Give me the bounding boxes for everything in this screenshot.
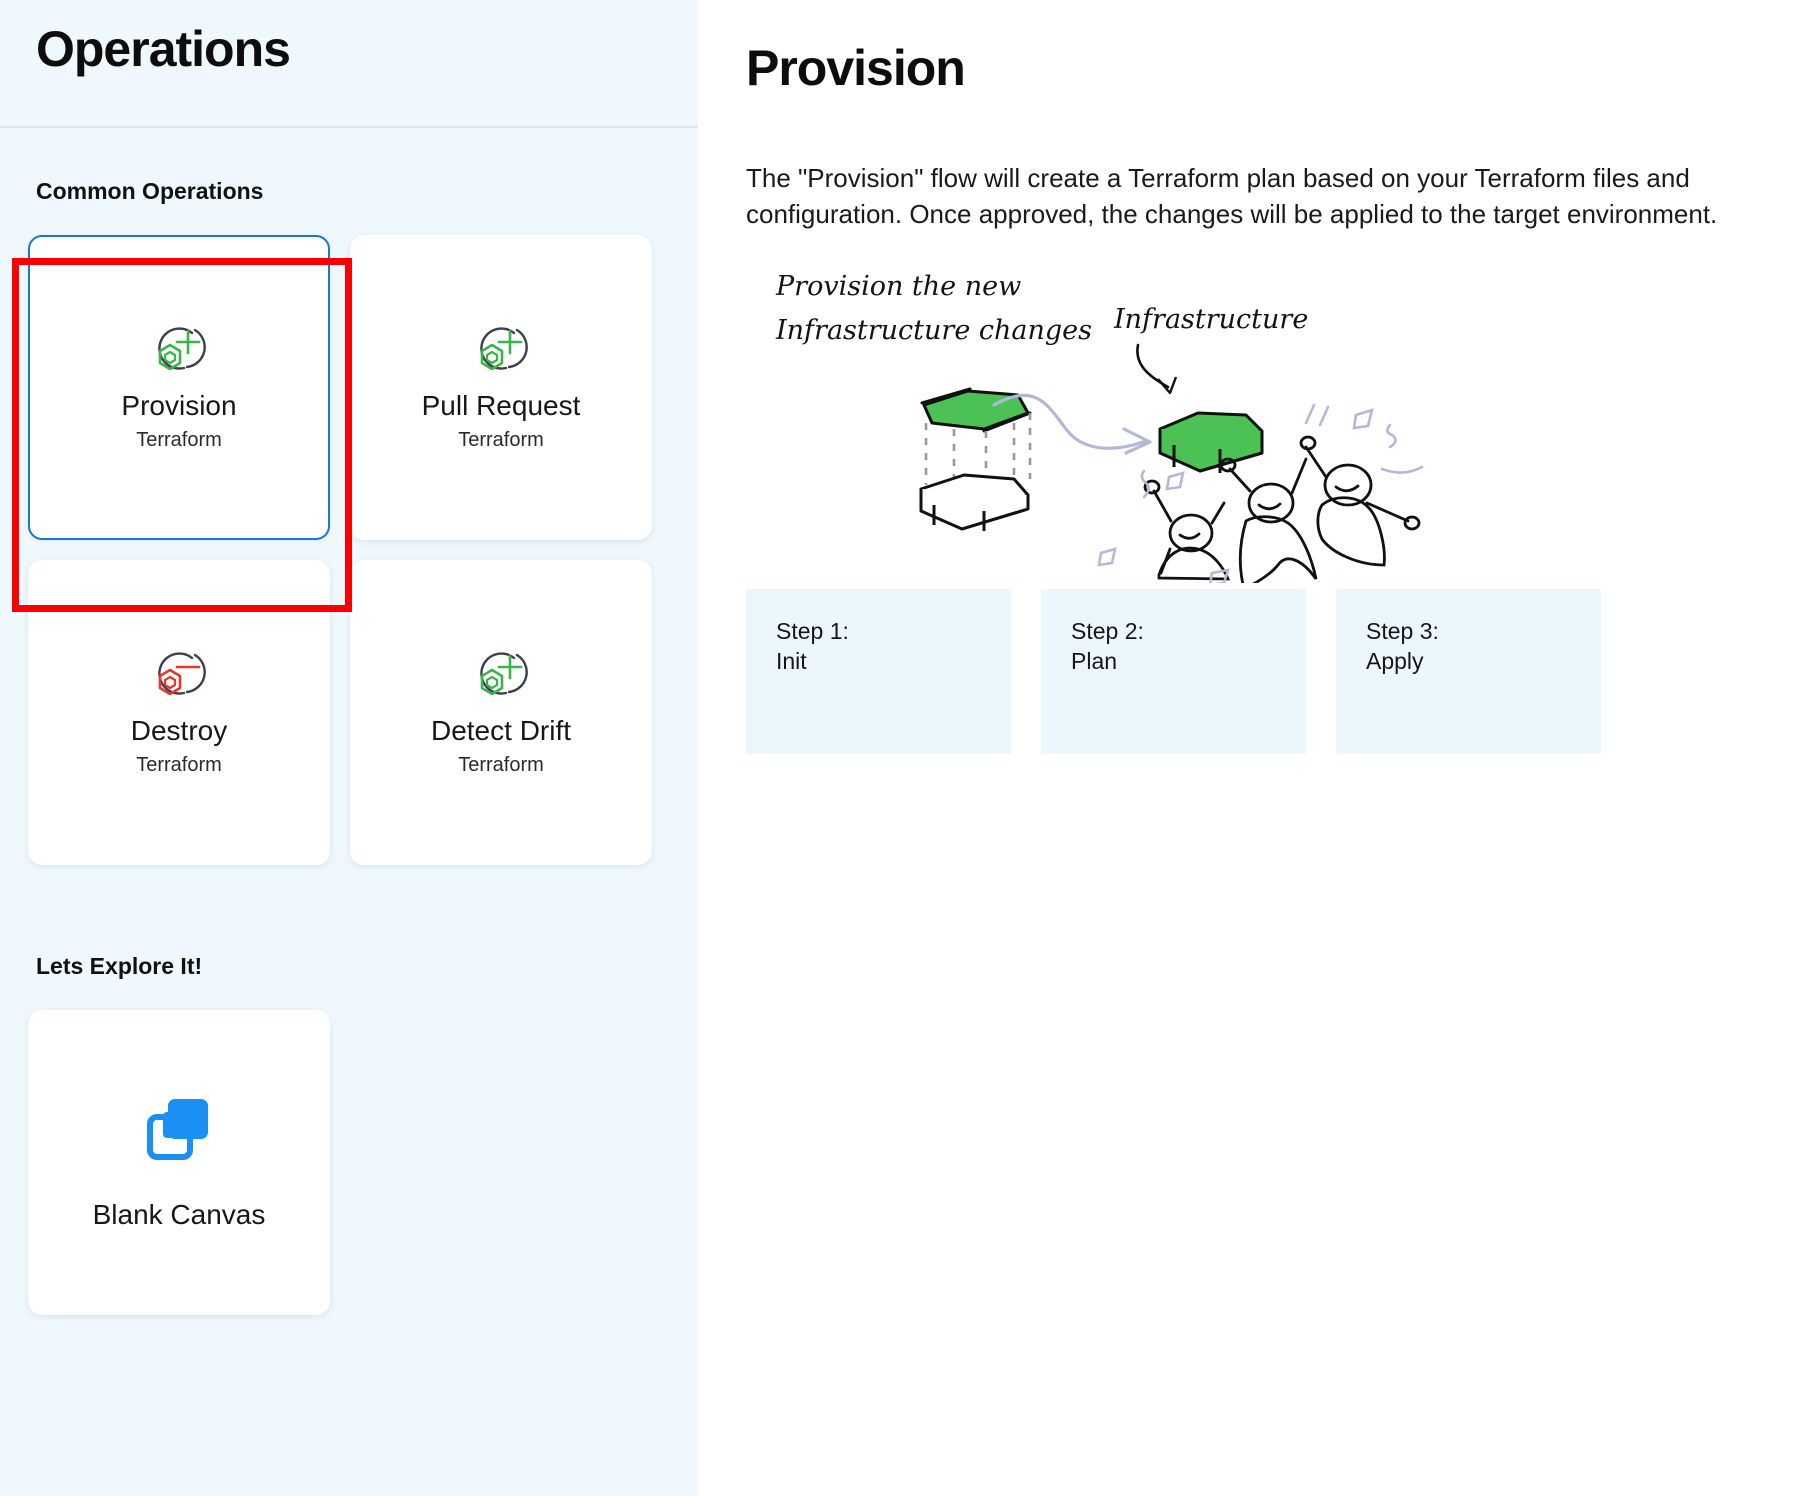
operation-card-blank-canvas[interactable]: Blank Canvas — [28, 1010, 330, 1315]
operation-card-pull-request[interactable]: Pull Request Terraform — [350, 235, 652, 540]
operation-card-subtitle: Terraform — [458, 429, 544, 452]
operation-card-provision[interactable]: Provision Terraform — [28, 235, 330, 540]
operation-card-title: Provision — [121, 391, 236, 422]
app-root: Operations Common Operations Provision — [0, 0, 1800, 1496]
detail-panel: Provision The "Provision" flow will crea… — [698, 0, 1800, 1496]
step-label: Step 2: — [1071, 617, 1306, 647]
operation-card-subtitle: Terraform — [136, 429, 222, 452]
explore-grid: Blank Canvas — [0, 980, 698, 1315]
operation-card-subtitle: Terraform — [458, 754, 544, 777]
step-name: Init — [776, 647, 1011, 677]
step-name: Apply — [1366, 647, 1601, 677]
operation-card-detect-drift[interactable]: Detect Drift Terraform — [350, 560, 652, 865]
terraform-add-icon — [470, 648, 532, 706]
sketch-hexagon-solid — [1160, 413, 1262, 473]
operation-card-destroy[interactable]: Destroy Terraform — [28, 560, 330, 865]
operations-sidebar: Operations Common Operations Provision — [0, 0, 698, 1496]
operation-card-title: Destroy — [131, 716, 227, 747]
common-operations-grid: Provision Terraform Pull Request Ter — [0, 205, 660, 865]
step-box-3: Step 3: Apply — [1336, 589, 1601, 754]
detail-title: Provision — [746, 40, 1800, 98]
provision-flow-illustration: Provision the new Infrastructure changes… — [746, 253, 1566, 583]
explore-section: Lets Explore It! Blank Canvas — [0, 865, 698, 1315]
sidebar-header: Operations — [0, 0, 698, 128]
step-label: Step 1: — [776, 617, 1011, 647]
blank-canvas-icon — [146, 1095, 212, 1161]
illustration-caption-left-line2: Infrastructure changes — [775, 315, 1092, 346]
detail-description: The "Provision" flow will create a Terra… — [746, 160, 1786, 234]
illustration-caption-left-line1: Provision the new — [775, 271, 1021, 302]
section-label-common-operations: Common Operations — [0, 128, 698, 205]
section-label-lets-explore-it: Lets Explore It! — [0, 953, 698, 980]
operation-card-title: Detect Drift — [431, 716, 571, 747]
page-title: Operations — [36, 22, 698, 77]
illustration-caption-right: Infrastructure — [1113, 304, 1308, 335]
provision-steps: Step 1: Init Step 2: Plan Step 3: Apply — [746, 589, 1800, 754]
step-label: Step 3: — [1366, 617, 1601, 647]
operation-card-subtitle: Terraform — [136, 754, 222, 777]
operation-card-title: Pull Request — [422, 391, 581, 422]
sketch-hexagon-prism — [921, 389, 1030, 531]
step-box-2: Step 2: Plan — [1041, 589, 1306, 754]
terraform-add-icon — [148, 323, 210, 381]
step-box-1: Step 1: Init — [746, 589, 1011, 754]
terraform-remove-icon — [148, 648, 210, 706]
step-name: Plan — [1071, 647, 1306, 677]
operation-card-title: Blank Canvas — [93, 1199, 266, 1231]
terraform-add-icon — [470, 323, 532, 381]
